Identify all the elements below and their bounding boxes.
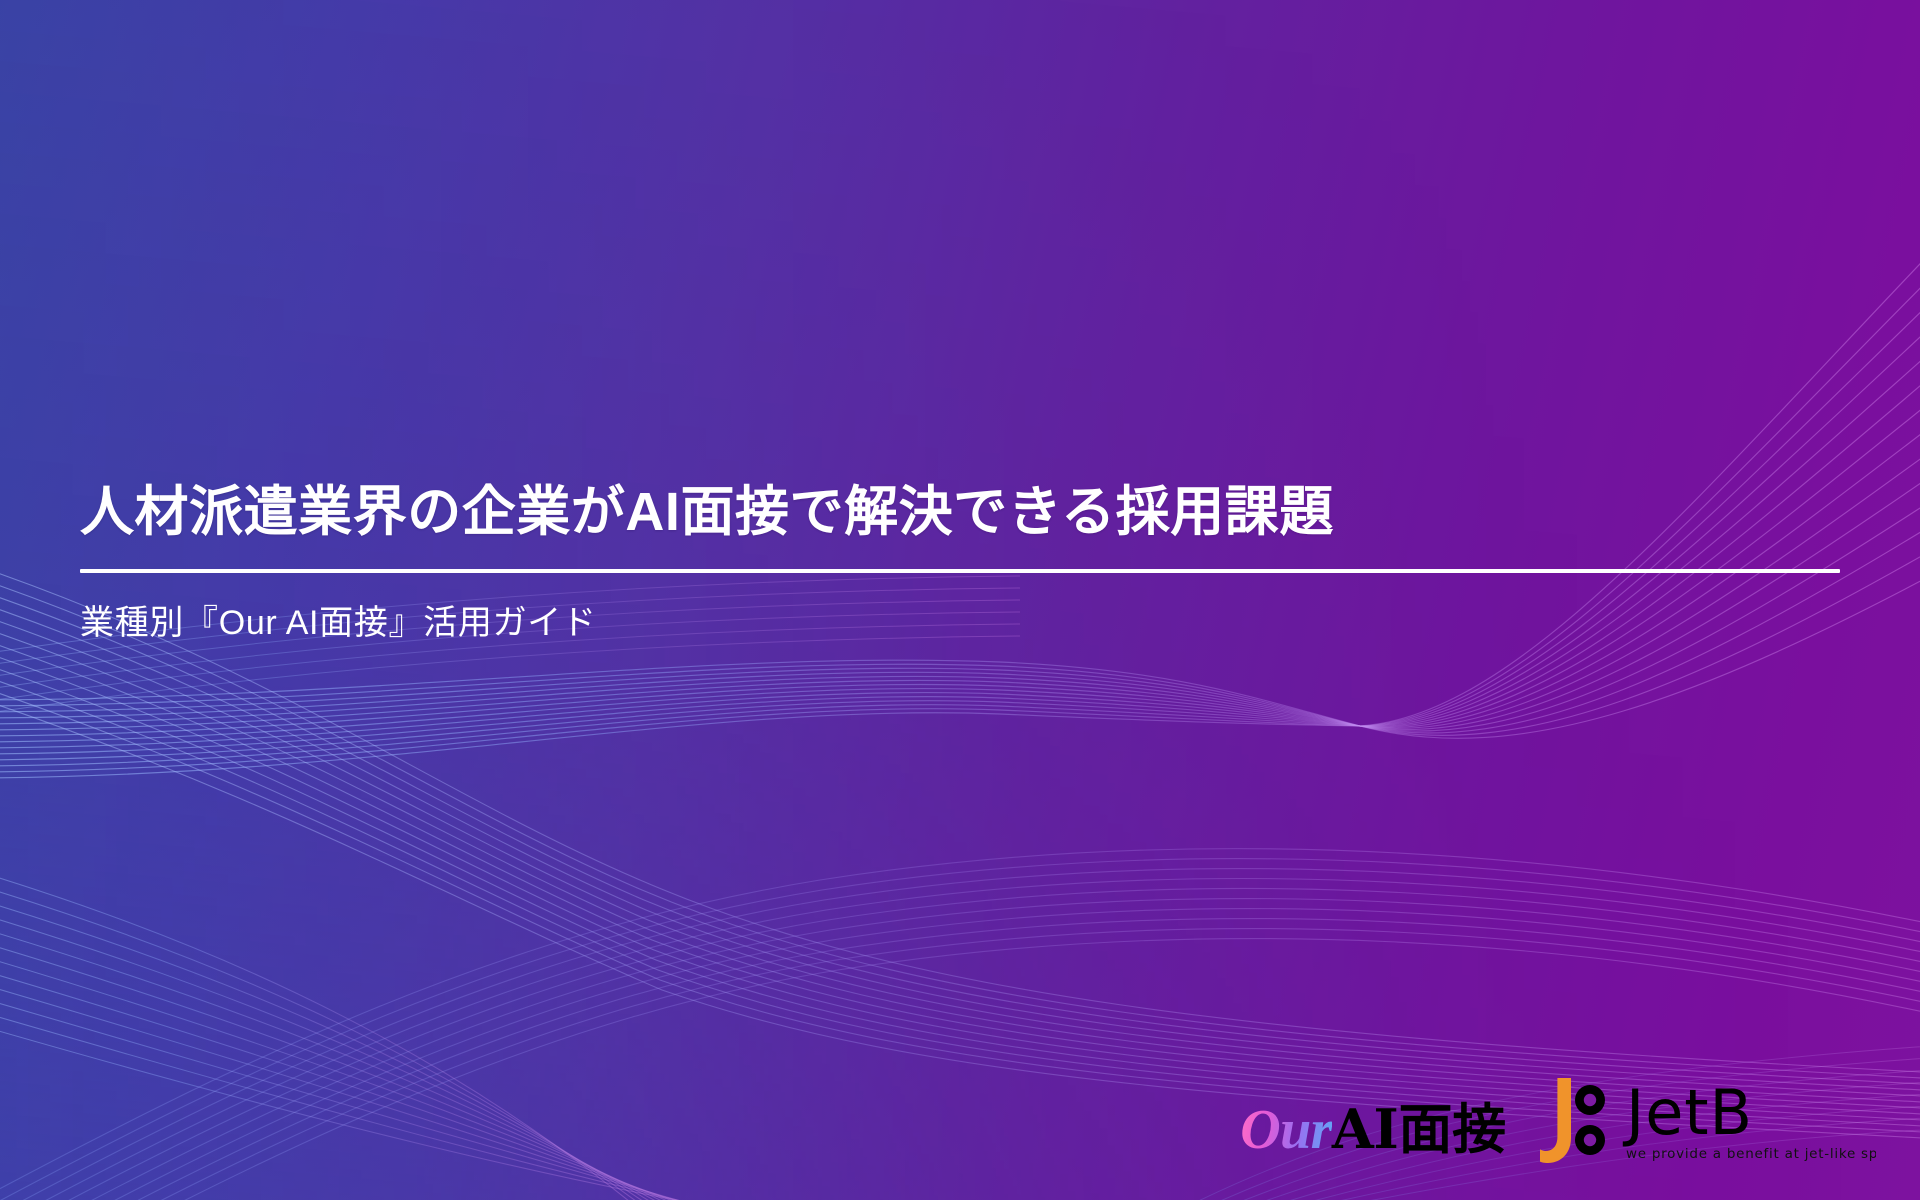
jetb-mark-icon bbox=[1540, 1074, 1616, 1166]
jetb-logo: JetB we provide a benefit at jet-like sp… bbox=[1540, 1074, 1876, 1166]
jetb-wordmark: JetB bbox=[1626, 1084, 1753, 1143]
logo-row: Our AI面接 JetB we provide a benefit at je… bbox=[1240, 1074, 1876, 1166]
our-ai-mensetsu-logo: Our AI面接 bbox=[1240, 1102, 1506, 1166]
jetb-tagline: we provide a benefit at jet-like speed bbox=[1626, 1143, 1876, 1164]
jetb-text-group: JetB we provide a benefit at jet-like sp… bbox=[1626, 1084, 1876, 1166]
page-subtitle: 業種別『Our AI面接』活用ガイド bbox=[80, 573, 1860, 645]
our-ai-mensetsu-logo-japanese: AI面接 bbox=[1332, 1102, 1506, 1156]
our-ai-mensetsu-logo-latin: Our bbox=[1240, 1102, 1332, 1158]
page-title: 人材派遣業界の企業がAI面接で解決できる採用課題 bbox=[80, 480, 1860, 545]
title-slide: 人材派遣業界の企業がAI面接で解決できる採用課題 業種別『Our AI面接』活用… bbox=[0, 0, 1920, 1200]
title-block: 人材派遣業界の企業がAI面接で解決できる採用課題 業種別『Our AI面接』活用… bbox=[80, 480, 1860, 645]
